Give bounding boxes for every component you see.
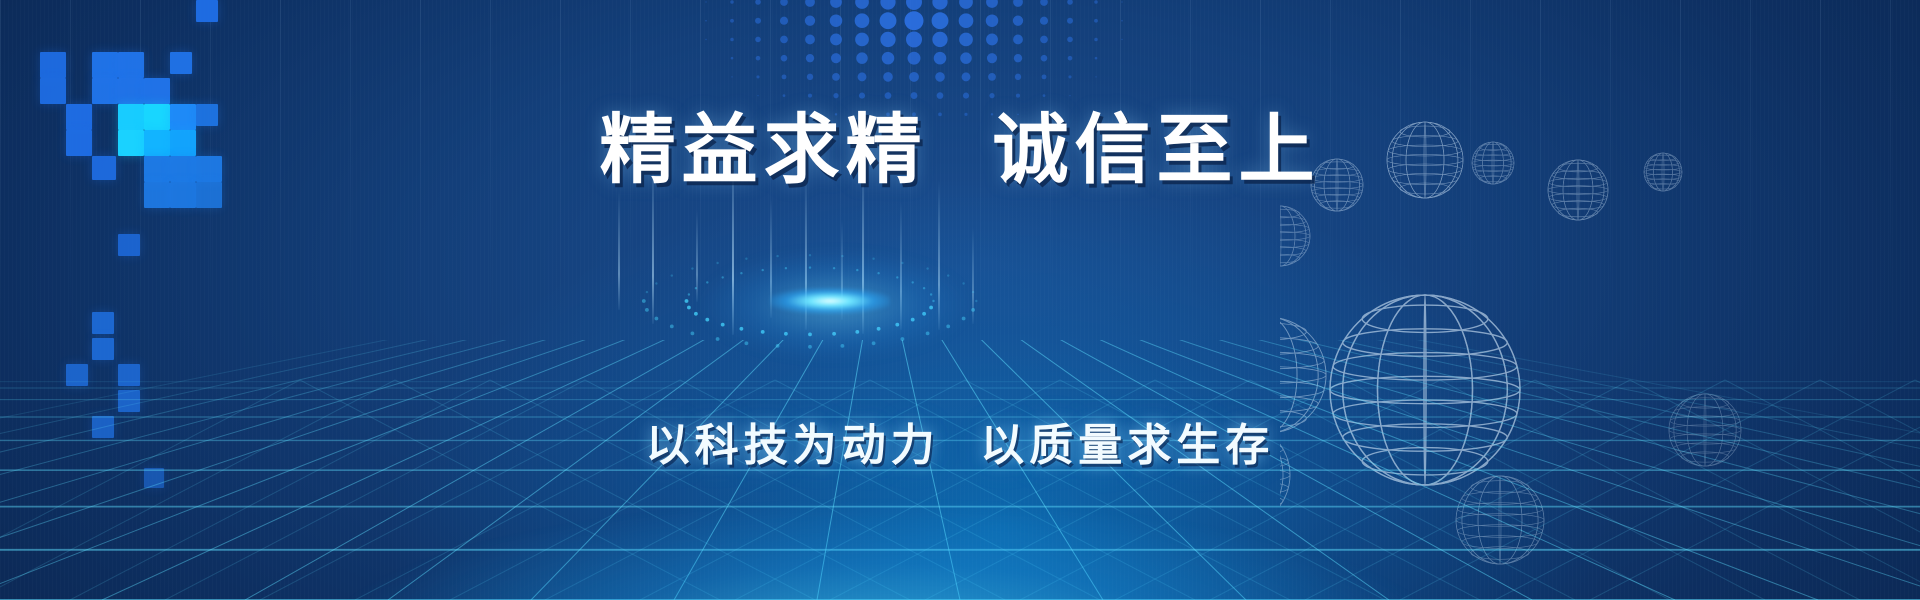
halftone-dot bbox=[1067, 18, 1073, 24]
halftone-dot bbox=[1121, 39, 1122, 40]
halftone-dot bbox=[1013, 16, 1023, 26]
halftone-dot bbox=[1013, 0, 1023, 7]
halftone-dot bbox=[932, 32, 947, 47]
orbit-dot bbox=[691, 332, 695, 336]
light-streak bbox=[900, 202, 902, 330]
halftone-dot bbox=[808, 94, 812, 98]
halftone-dot bbox=[782, 74, 787, 79]
grid-diagonal-line bbox=[1060, 380, 1480, 600]
halftone-dot bbox=[906, 0, 922, 10]
orbit-dot bbox=[832, 332, 836, 336]
halftone-dot bbox=[830, 14, 842, 26]
orbit-dot bbox=[841, 255, 843, 257]
halftone-dot bbox=[730, 38, 734, 42]
grid-diagonal-line bbox=[1115, 380, 1535, 600]
light-streak bbox=[770, 198, 772, 318]
grid-diagonal-line bbox=[1305, 380, 1725, 600]
orb-halo bbox=[700, 250, 970, 360]
halftone-dot bbox=[730, 0, 734, 4]
orbit-dot bbox=[962, 317, 966, 321]
halftone-dot bbox=[959, 13, 974, 28]
orbit-dot bbox=[685, 299, 689, 303]
halftone-dot bbox=[830, 34, 842, 46]
grid-diagonal-line bbox=[1725, 380, 1920, 600]
orbit-dot bbox=[929, 306, 933, 310]
mosaic-square bbox=[40, 78, 66, 104]
mosaic-square bbox=[92, 78, 118, 104]
light-streak bbox=[696, 210, 698, 302]
grid-diagonal-line bbox=[1915, 380, 1920, 600]
grid-diagonal-line bbox=[1400, 380, 1820, 600]
halftone-dot bbox=[805, 16, 815, 26]
halftone-dot bbox=[1068, 75, 1071, 78]
grid-diagonal-line bbox=[1590, 380, 1920, 600]
mosaic-square bbox=[92, 312, 114, 334]
halftone-dot bbox=[705, 1, 706, 2]
halftone-dot bbox=[959, 0, 973, 9]
orbit-dot bbox=[655, 317, 659, 321]
orb-core-glow bbox=[770, 288, 890, 314]
halftone-dot bbox=[986, 14, 998, 26]
orbit-dot bbox=[776, 344, 780, 348]
mosaic-square bbox=[118, 234, 140, 256]
orbit-dot bbox=[833, 267, 835, 269]
orbit-dot bbox=[745, 258, 747, 260]
orbit-dot bbox=[785, 267, 787, 269]
wireframe-globe bbox=[1280, 317, 1326, 433]
orbit-dot bbox=[762, 269, 764, 271]
halftone-dot bbox=[1094, 0, 1098, 4]
halftone-dot bbox=[805, 35, 815, 45]
halftone-dot bbox=[731, 76, 732, 77]
mosaic-square bbox=[118, 364, 140, 386]
halftone-dot bbox=[1094, 19, 1098, 23]
halftone-dot bbox=[882, 52, 895, 65]
halftone-dot bbox=[906, 31, 922, 47]
orbit-dot bbox=[670, 325, 674, 329]
orbit-dot bbox=[972, 291, 974, 293]
grid-diagonal-line bbox=[490, 380, 910, 600]
orbit-dot bbox=[646, 291, 648, 293]
orbit-dot bbox=[671, 274, 673, 276]
halftone-dot bbox=[705, 39, 706, 40]
halftone-dot bbox=[1042, 74, 1047, 79]
halftone-dot bbox=[783, 94, 786, 97]
halftone-dot bbox=[858, 72, 867, 81]
orbit-dot bbox=[926, 332, 930, 336]
mosaic-square bbox=[66, 364, 88, 386]
grid-diagonal-line bbox=[165, 380, 585, 600]
orbit-dot bbox=[926, 267, 928, 269]
orbit-dot bbox=[740, 327, 744, 331]
halftone-dot bbox=[1094, 38, 1098, 42]
halftone-dot bbox=[1040, 0, 1048, 6]
halftone-dot bbox=[1043, 94, 1046, 97]
orbit-dot bbox=[841, 344, 845, 348]
light-streak bbox=[841, 220, 843, 320]
halftone-dot bbox=[963, 93, 969, 99]
grid-diagonal-line bbox=[0, 380, 395, 600]
orbit-dot bbox=[808, 333, 812, 337]
mosaic-square bbox=[196, 0, 218, 22]
halftone-dot bbox=[909, 72, 919, 82]
halftone-dot bbox=[756, 56, 761, 61]
central-orb-decoration bbox=[600, 210, 1020, 400]
orbit-dot bbox=[922, 312, 926, 316]
orbit-rings-icon bbox=[600, 210, 1020, 400]
orbit-dot bbox=[895, 323, 899, 327]
halftone-dot bbox=[932, 0, 947, 10]
halftone-dot bbox=[755, 37, 761, 43]
mosaic-square bbox=[92, 338, 114, 360]
orbit-dot bbox=[962, 282, 964, 284]
halftone-dot bbox=[780, 17, 788, 25]
mosaic-square bbox=[118, 390, 140, 412]
mosaic-square bbox=[40, 52, 66, 78]
halftone-dot bbox=[987, 53, 997, 63]
orbit-dot bbox=[946, 325, 950, 329]
orbit-dot bbox=[722, 276, 724, 278]
grid-diagonal-line bbox=[1250, 380, 1670, 600]
orbit-dot bbox=[912, 281, 914, 283]
orbit-dot bbox=[705, 318, 709, 322]
halftone-dot bbox=[885, 92, 892, 99]
halftone-dot bbox=[1067, 0, 1073, 5]
halftone-dot bbox=[932, 12, 949, 29]
orbit-dot bbox=[911, 318, 915, 322]
halftone-dot bbox=[1067, 37, 1073, 43]
grid-diagonal-line bbox=[1820, 380, 1920, 600]
halftone-dot bbox=[856, 52, 868, 64]
halftone-dot bbox=[986, 34, 998, 46]
halftone-dot bbox=[730, 19, 734, 23]
halftone-dot bbox=[1016, 94, 1020, 98]
halftone-dot bbox=[937, 92, 944, 99]
halftone-dot bbox=[988, 73, 996, 81]
halftone-dot bbox=[1121, 20, 1123, 22]
halftone-dot bbox=[959, 33, 973, 47]
grid-diagonal-line bbox=[585, 380, 1005, 600]
halftone-dot bbox=[1040, 36, 1048, 44]
light-streak bbox=[938, 180, 940, 330]
wireframe-globe bbox=[1456, 476, 1544, 564]
orbit-dot bbox=[687, 306, 691, 310]
grid-diagonal-line bbox=[1210, 380, 1630, 600]
hero-banner: 精益求精 诚信至上 以科技为动力 以质量求生存 bbox=[0, 0, 1920, 600]
halftone-dot bbox=[855, 0, 869, 9]
halftone-dot bbox=[831, 53, 841, 63]
halftone-dot bbox=[934, 52, 947, 65]
orbit-dot bbox=[809, 266, 811, 268]
grid-diagonal-line bbox=[450, 380, 870, 600]
grid-diagonal-line bbox=[545, 380, 965, 600]
grid-diagonal-line bbox=[0, 380, 300, 600]
mosaic-square bbox=[92, 52, 118, 78]
halftone-dot bbox=[756, 75, 759, 78]
banner-subtitle: 以科技为动力 以质量求生存 bbox=[0, 424, 1920, 468]
halftone-dot bbox=[905, 11, 924, 30]
orbit-dot bbox=[691, 267, 693, 269]
halftone-dot bbox=[1015, 74, 1021, 80]
halftone-dot bbox=[1095, 57, 1098, 60]
grid-diagonal-line bbox=[395, 380, 815, 600]
orbit-dot bbox=[645, 308, 649, 312]
orbit-dot bbox=[776, 255, 778, 257]
grid-diagonal-line bbox=[355, 380, 775, 600]
orbit-dot bbox=[947, 274, 949, 276]
grid-diagonal-line bbox=[640, 380, 1060, 600]
orbit-dot bbox=[975, 300, 977, 302]
halftone-dot bbox=[1095, 76, 1096, 77]
mosaic-square bbox=[144, 468, 164, 488]
grid-diagonal-line bbox=[925, 380, 1345, 600]
orbit-dot bbox=[923, 287, 925, 289]
halftone-dot bbox=[911, 92, 918, 99]
grid-diagonal-line bbox=[870, 380, 1290, 600]
pixel-mosaic-decoration bbox=[40, 0, 320, 480]
orbit-dot bbox=[784, 332, 788, 336]
orbit-dot bbox=[761, 330, 765, 334]
halftone-dot bbox=[960, 52, 972, 64]
halftone-dot bbox=[807, 74, 813, 80]
mosaic-square bbox=[144, 78, 170, 104]
wireframe-globe bbox=[1280, 206, 1310, 266]
orbit-dot bbox=[930, 293, 932, 295]
halftone-dot bbox=[755, 18, 761, 24]
grid-diagonal-line bbox=[300, 380, 720, 600]
grid-diagonal-line bbox=[1155, 380, 1575, 600]
wireframe-globes-decoration bbox=[1280, 0, 1920, 600]
halftone-dot bbox=[805, 0, 815, 7]
banner-title: 精益求精 诚信至上 bbox=[0, 112, 1920, 188]
grid-diagonal-line bbox=[775, 380, 1195, 600]
halftone-dot bbox=[908, 52, 921, 65]
orbit-dot bbox=[721, 323, 725, 327]
orbit-dot bbox=[740, 272, 742, 274]
halftone-dot bbox=[1068, 56, 1073, 61]
mosaic-square bbox=[118, 52, 144, 78]
orbit-dot bbox=[688, 293, 690, 295]
orbit-dot bbox=[932, 300, 934, 302]
halftone-dot bbox=[806, 54, 814, 62]
halftone-dot bbox=[780, 0, 788, 6]
grid-diagonal-line bbox=[1345, 380, 1765, 600]
light-streak bbox=[805, 172, 807, 330]
grid-diagonal-line bbox=[260, 380, 680, 600]
grid-diagonal-line bbox=[680, 380, 1100, 600]
halftone-dot bbox=[962, 72, 971, 81]
grid-diagonal-line bbox=[1440, 380, 1860, 600]
halftone-dot bbox=[1040, 17, 1048, 25]
halftone-dot bbox=[833, 93, 838, 98]
halftone-dot bbox=[731, 57, 734, 60]
orbit-dot bbox=[695, 287, 697, 289]
orbit-dot bbox=[808, 345, 812, 349]
grid-diagonal-line bbox=[1495, 380, 1915, 600]
grid-diagonal-line bbox=[1630, 380, 1920, 600]
orbit-dot bbox=[877, 272, 879, 274]
halftone-dot bbox=[781, 55, 788, 62]
orbit-dot bbox=[655, 282, 657, 284]
orbit-dot bbox=[872, 341, 876, 345]
orbit-dot bbox=[706, 281, 708, 283]
halftone-dot bbox=[780, 36, 788, 44]
halftone-dot bbox=[1014, 54, 1022, 62]
halftone-dot bbox=[883, 72, 893, 82]
halftone-dot bbox=[989, 93, 994, 98]
mosaic-square bbox=[118, 78, 144, 104]
halftone-dot bbox=[1013, 35, 1023, 45]
halftone-dot bbox=[880, 32, 895, 47]
halftone-dot bbox=[755, 0, 761, 5]
orbit-dot bbox=[809, 254, 811, 256]
orbit-dot bbox=[642, 299, 646, 303]
halftone-dot bbox=[859, 93, 865, 99]
halftone-dot bbox=[832, 73, 840, 81]
light-streak bbox=[618, 190, 620, 310]
halftone-dot bbox=[1121, 1, 1122, 2]
grid-diagonal-line bbox=[1020, 380, 1440, 600]
orbit-dot bbox=[901, 337, 905, 341]
halftone-dot bbox=[830, 0, 842, 8]
orbit-dot bbox=[901, 262, 903, 264]
halftone-dot bbox=[935, 72, 945, 82]
orbit-dot bbox=[872, 258, 874, 260]
orbit-dot bbox=[971, 308, 975, 312]
orbit-dot bbox=[716, 262, 718, 264]
halftone-dot bbox=[757, 95, 758, 96]
grid-diagonal-line bbox=[965, 380, 1385, 600]
orbit-dot bbox=[896, 276, 898, 278]
light-streak bbox=[972, 228, 974, 324]
scanline-texture bbox=[0, 0, 1920, 600]
halftone-dot bbox=[880, 0, 895, 10]
orbit-dot bbox=[694, 312, 698, 316]
halftone-dot bbox=[1041, 55, 1048, 62]
orbit-dot bbox=[877, 327, 881, 331]
grid-diagonal-line bbox=[70, 380, 490, 600]
grid-diagonal-line bbox=[830, 380, 1250, 600]
grid-diagonal-line bbox=[1535, 380, 1920, 600]
halftone-dot bbox=[986, 0, 998, 8]
halftone-dot bbox=[855, 13, 870, 28]
orbit-dot bbox=[745, 341, 749, 345]
halftone-dot bbox=[855, 33, 869, 47]
grid-diagonal-line bbox=[735, 380, 1155, 600]
halftone-dot bbox=[880, 12, 897, 29]
mosaic-square bbox=[170, 52, 192, 74]
orbit-dot bbox=[855, 330, 859, 334]
halftone-dot bbox=[705, 20, 707, 22]
halftone-dot bbox=[1069, 95, 1070, 96]
orbit-dot bbox=[856, 269, 858, 271]
orbit-dot bbox=[716, 337, 720, 341]
